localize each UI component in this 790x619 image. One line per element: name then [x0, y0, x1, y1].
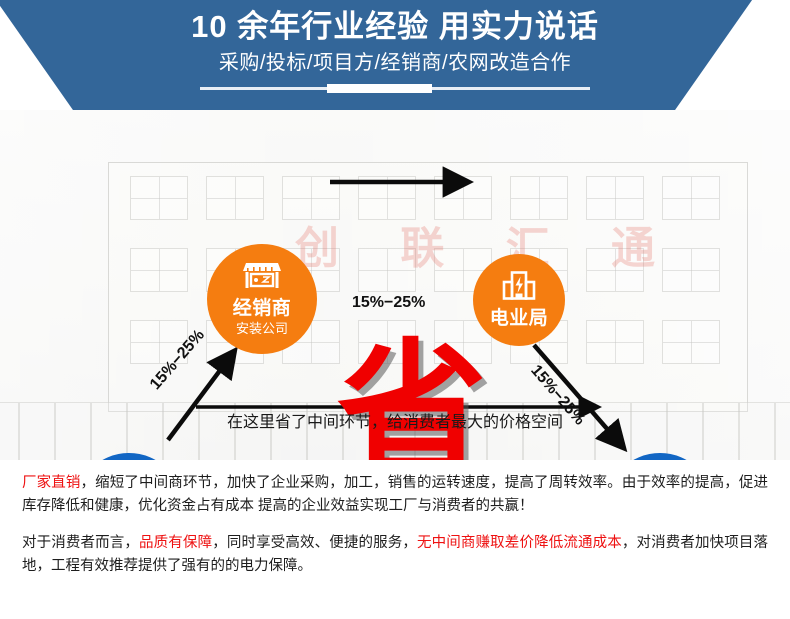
node-dealer-sublabel: 安装公司 — [236, 320, 288, 337]
promo-banner-page: 10 余年行业经验 用实力说话 采购/投标/项目方/经销商/农网改造合作 — [0, 0, 790, 619]
copy-paragraph-2: 对于消费者而言，品质有保障，同时享受高效、便捷的服务，无中间商赚取差价降低流通成… — [22, 532, 768, 578]
page-header: 10 余年行业经验 用实力说话 采购/投标/项目方/经销商/农网改造合作 — [0, 0, 790, 110]
header-title: 10 余年行业经验 用实力说话 — [191, 6, 599, 48]
node-dealer[interactable]: 经销商 安装公司 — [207, 244, 317, 354]
header-divider-center-block — [327, 84, 432, 93]
copy-p2-highlight-1: 品质有保障 — [139, 535, 212, 551]
store-icon — [242, 261, 282, 296]
copy-p2-text-2: ，同时享受高效、便捷的服务， — [212, 535, 417, 551]
power-building-icon — [501, 271, 537, 306]
marketing-copy: 厂家直销，缩短了中间商环节，加快了企业采购，加工，销售的运转速度，提高了周转效率… — [0, 460, 790, 619]
header-divider — [200, 84, 590, 93]
percent-label-dealer-to-bureau: 15%−25% — [352, 294, 425, 312]
flow-caption: 在这里省了中间环节，给消费者最大的价格空间 — [200, 408, 590, 432]
node-bureau-label: 电业局 — [490, 308, 549, 330]
copy-p2-highlight-2: 无中间商赚取差价降低流通成本 — [417, 535, 622, 551]
node-dealer-label: 经销商 — [233, 298, 292, 320]
copy-p1-text: ，缩短了中间商环节，加快了企业采购，加工，销售的运转速度，提高了周转效率。由于效… — [22, 475, 768, 514]
copy-p2-text-1: 对于消费者而言， — [22, 535, 139, 551]
copy-p1-highlight: 厂家直销 — [22, 475, 81, 491]
node-bureau[interactable]: 电业局 — [473, 254, 565, 346]
big-save-character: 省 — [322, 338, 502, 460]
diagram-stage: 创 联 汇 通 省 15%−25% 15%−25% 15%−25% — [0, 110, 790, 460]
header-subtitle: 采购/投标/项目方/经销商/农网改造合作 — [219, 48, 571, 78]
copy-paragraph-1: 厂家直销，缩短了中间商环节，加快了企业采购，加工，销售的运转速度，提高了周转效率… — [22, 472, 768, 518]
